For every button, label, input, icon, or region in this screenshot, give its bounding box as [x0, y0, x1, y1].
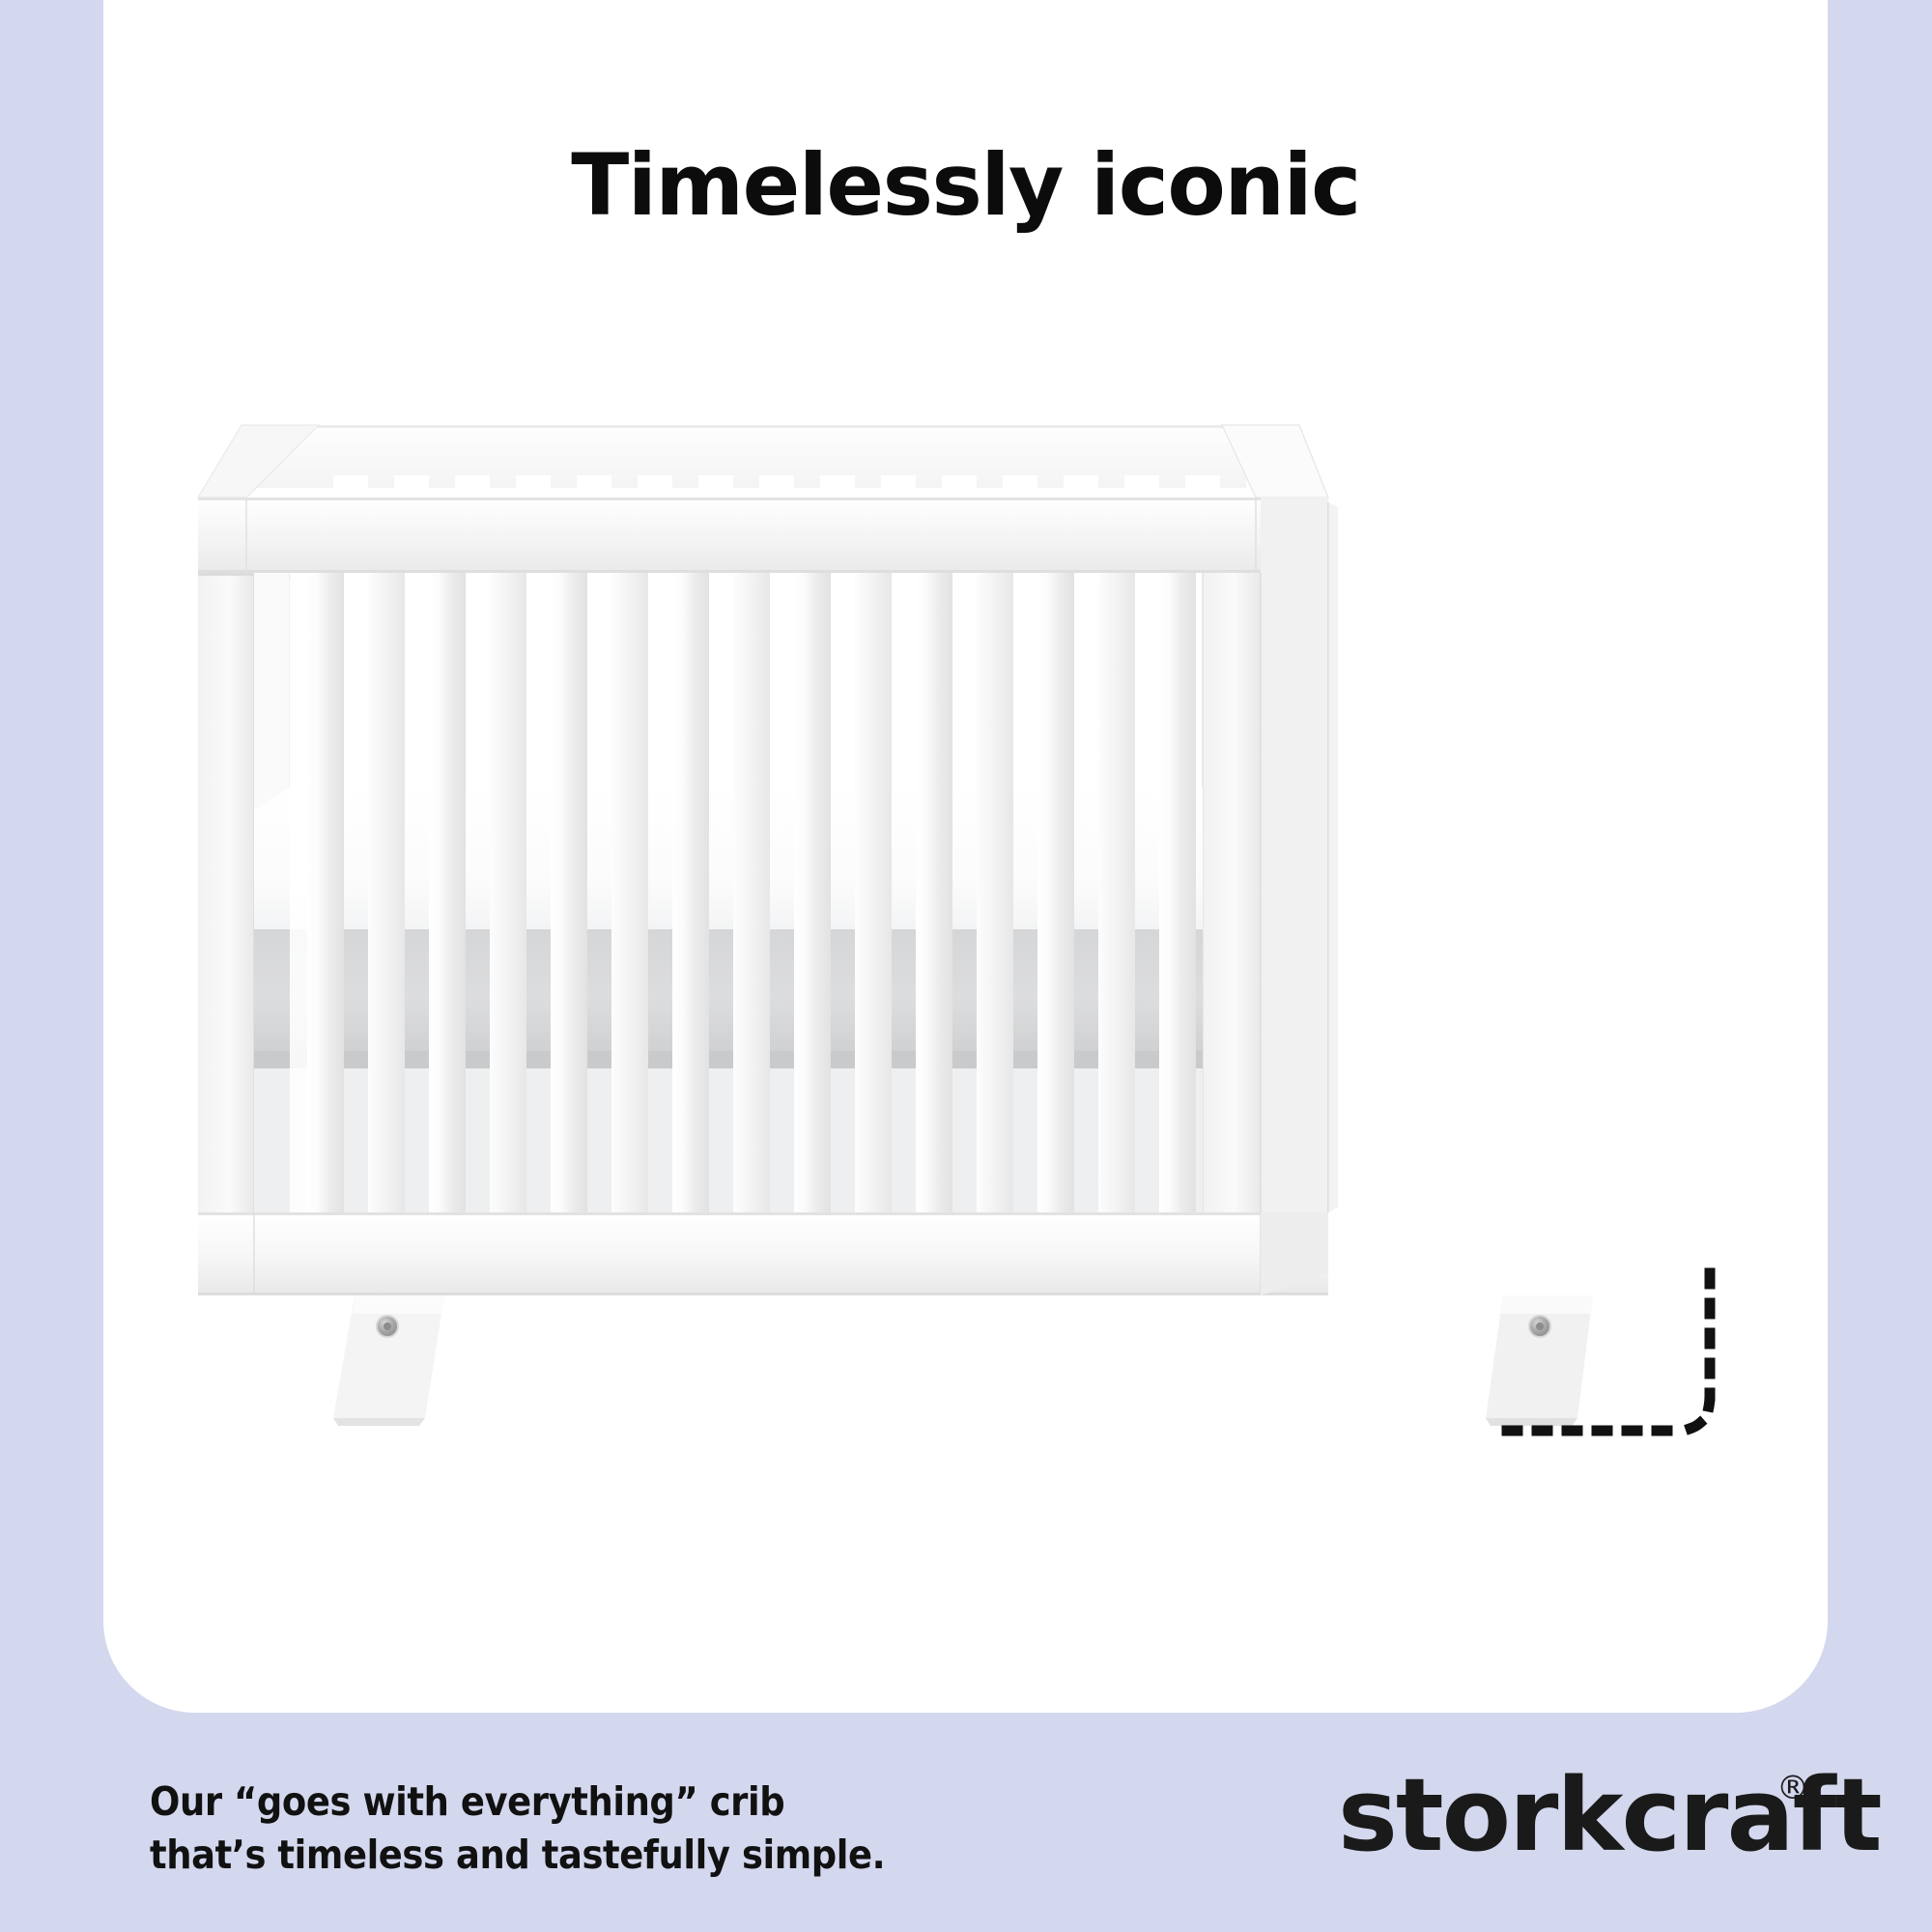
brand-logo: storkcraft ® — [1338, 1761, 1811, 1869]
registered-trademark-icon: ® — [1776, 1769, 1809, 1807]
page-title: Timelessly iconic — [103, 143, 1828, 228]
white-content-panel — [103, 0, 1828, 1713]
marketing-caption: Our “goes with everything” crib that’s t… — [150, 1776, 885, 1881]
poster-canvas: Timelessly iconic — [0, 0, 1932, 1932]
